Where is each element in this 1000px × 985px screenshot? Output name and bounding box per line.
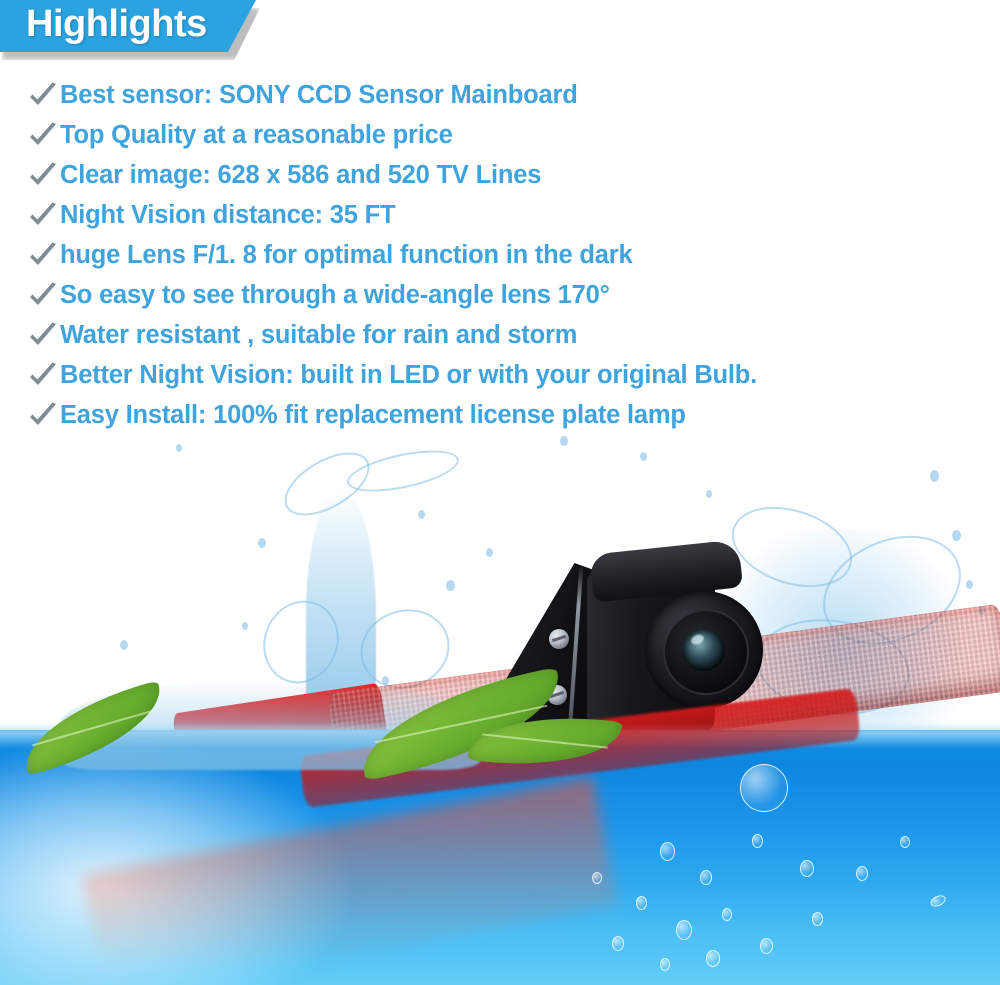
splash-droplet (418, 510, 425, 519)
list-item-label: Best sensor: SONY CCD Sensor Mainboard (60, 76, 578, 114)
list-item: Top Quality at a reasonable price (26, 116, 976, 156)
list-item: Night Vision distance: 35 FT (26, 196, 976, 236)
list-item: Clear image: 628 x 586 and 520 TV Lines (26, 156, 976, 196)
water-bubble (800, 860, 814, 877)
check-mark-icon (26, 239, 60, 273)
list-item-label: Better Night Vision: built in LED or wit… (60, 356, 757, 394)
splash-droplet (120, 640, 128, 650)
splash-droplet (930, 470, 939, 482)
splash-droplet (486, 548, 493, 557)
list-item: huge Lens F/1. 8 for optimal function in… (26, 236, 976, 276)
water-bubble (676, 920, 692, 940)
splash-droplet (446, 580, 455, 591)
splash-droplet (966, 580, 973, 589)
water-bubble (760, 938, 773, 954)
check-mark-icon (26, 319, 60, 353)
water-bubble (660, 958, 670, 971)
list-item-label: Clear image: 628 x 586 and 520 TV Lines (60, 156, 541, 194)
splash-droplet (242, 622, 248, 630)
splash-droplet (382, 676, 389, 685)
list-item: Water resistant , suitable for rain and … (26, 316, 976, 356)
product-highlights-page: Highlights Best sensor: SONY CCD Sensor … (0, 0, 1000, 985)
water-bubble (900, 836, 910, 848)
splash-streak (344, 443, 463, 500)
water-bubble (856, 866, 868, 881)
water-bubble (752, 834, 763, 848)
highlights-list: Best sensor: SONY CCD Sensor Mainboard T… (26, 76, 976, 474)
splash-droplet (640, 452, 647, 461)
check-mark-icon (26, 359, 60, 393)
page-title: Highlights (26, 3, 207, 46)
list-item-label: Night Vision distance: 35 FT (60, 196, 395, 234)
leaf-vein (482, 733, 608, 748)
water-bubble (706, 950, 720, 967)
list-item-label: huge Lens F/1. 8 for optimal function in… (60, 236, 633, 274)
list-item: Best sensor: SONY CCD Sensor Mainboard (26, 76, 976, 116)
water-bubble (812, 912, 823, 926)
water-bubble (592, 872, 602, 884)
check-mark-icon (26, 199, 60, 233)
list-item: Better Night Vision: built in LED or wit… (26, 356, 976, 396)
water-bubble (636, 896, 647, 910)
water-bubble (740, 764, 788, 812)
check-mark-icon (26, 119, 60, 153)
mounting-screw (549, 629, 569, 649)
check-mark-icon (26, 159, 60, 193)
splash-droplet (952, 530, 961, 541)
splash-droplet (560, 436, 568, 446)
water-bubble (722, 908, 732, 921)
water-bubble (660, 842, 675, 861)
check-mark-icon (26, 279, 60, 313)
list-item: So easy to see through a wide-angle lens… (26, 276, 976, 316)
water-bubble (612, 936, 624, 951)
list-item-label: Water resistant , suitable for rain and … (60, 316, 577, 354)
check-mark-icon (26, 399, 60, 433)
splash-droplet (176, 444, 182, 452)
check-mark-icon (26, 79, 60, 113)
splash-droplet (258, 538, 266, 548)
camera-lens-glass (683, 629, 725, 671)
list-item-label: Easy Install: 100% fit replacement licen… (60, 396, 686, 434)
splash-droplet (706, 490, 712, 498)
list-item-label: Top Quality at a reasonable price (60, 116, 453, 154)
water-bubble (700, 870, 712, 885)
list-item-label: So easy to see through a wide-angle lens… (60, 276, 610, 314)
product-photo (0, 430, 1000, 985)
highlights-banner: Highlights (0, 0, 280, 62)
